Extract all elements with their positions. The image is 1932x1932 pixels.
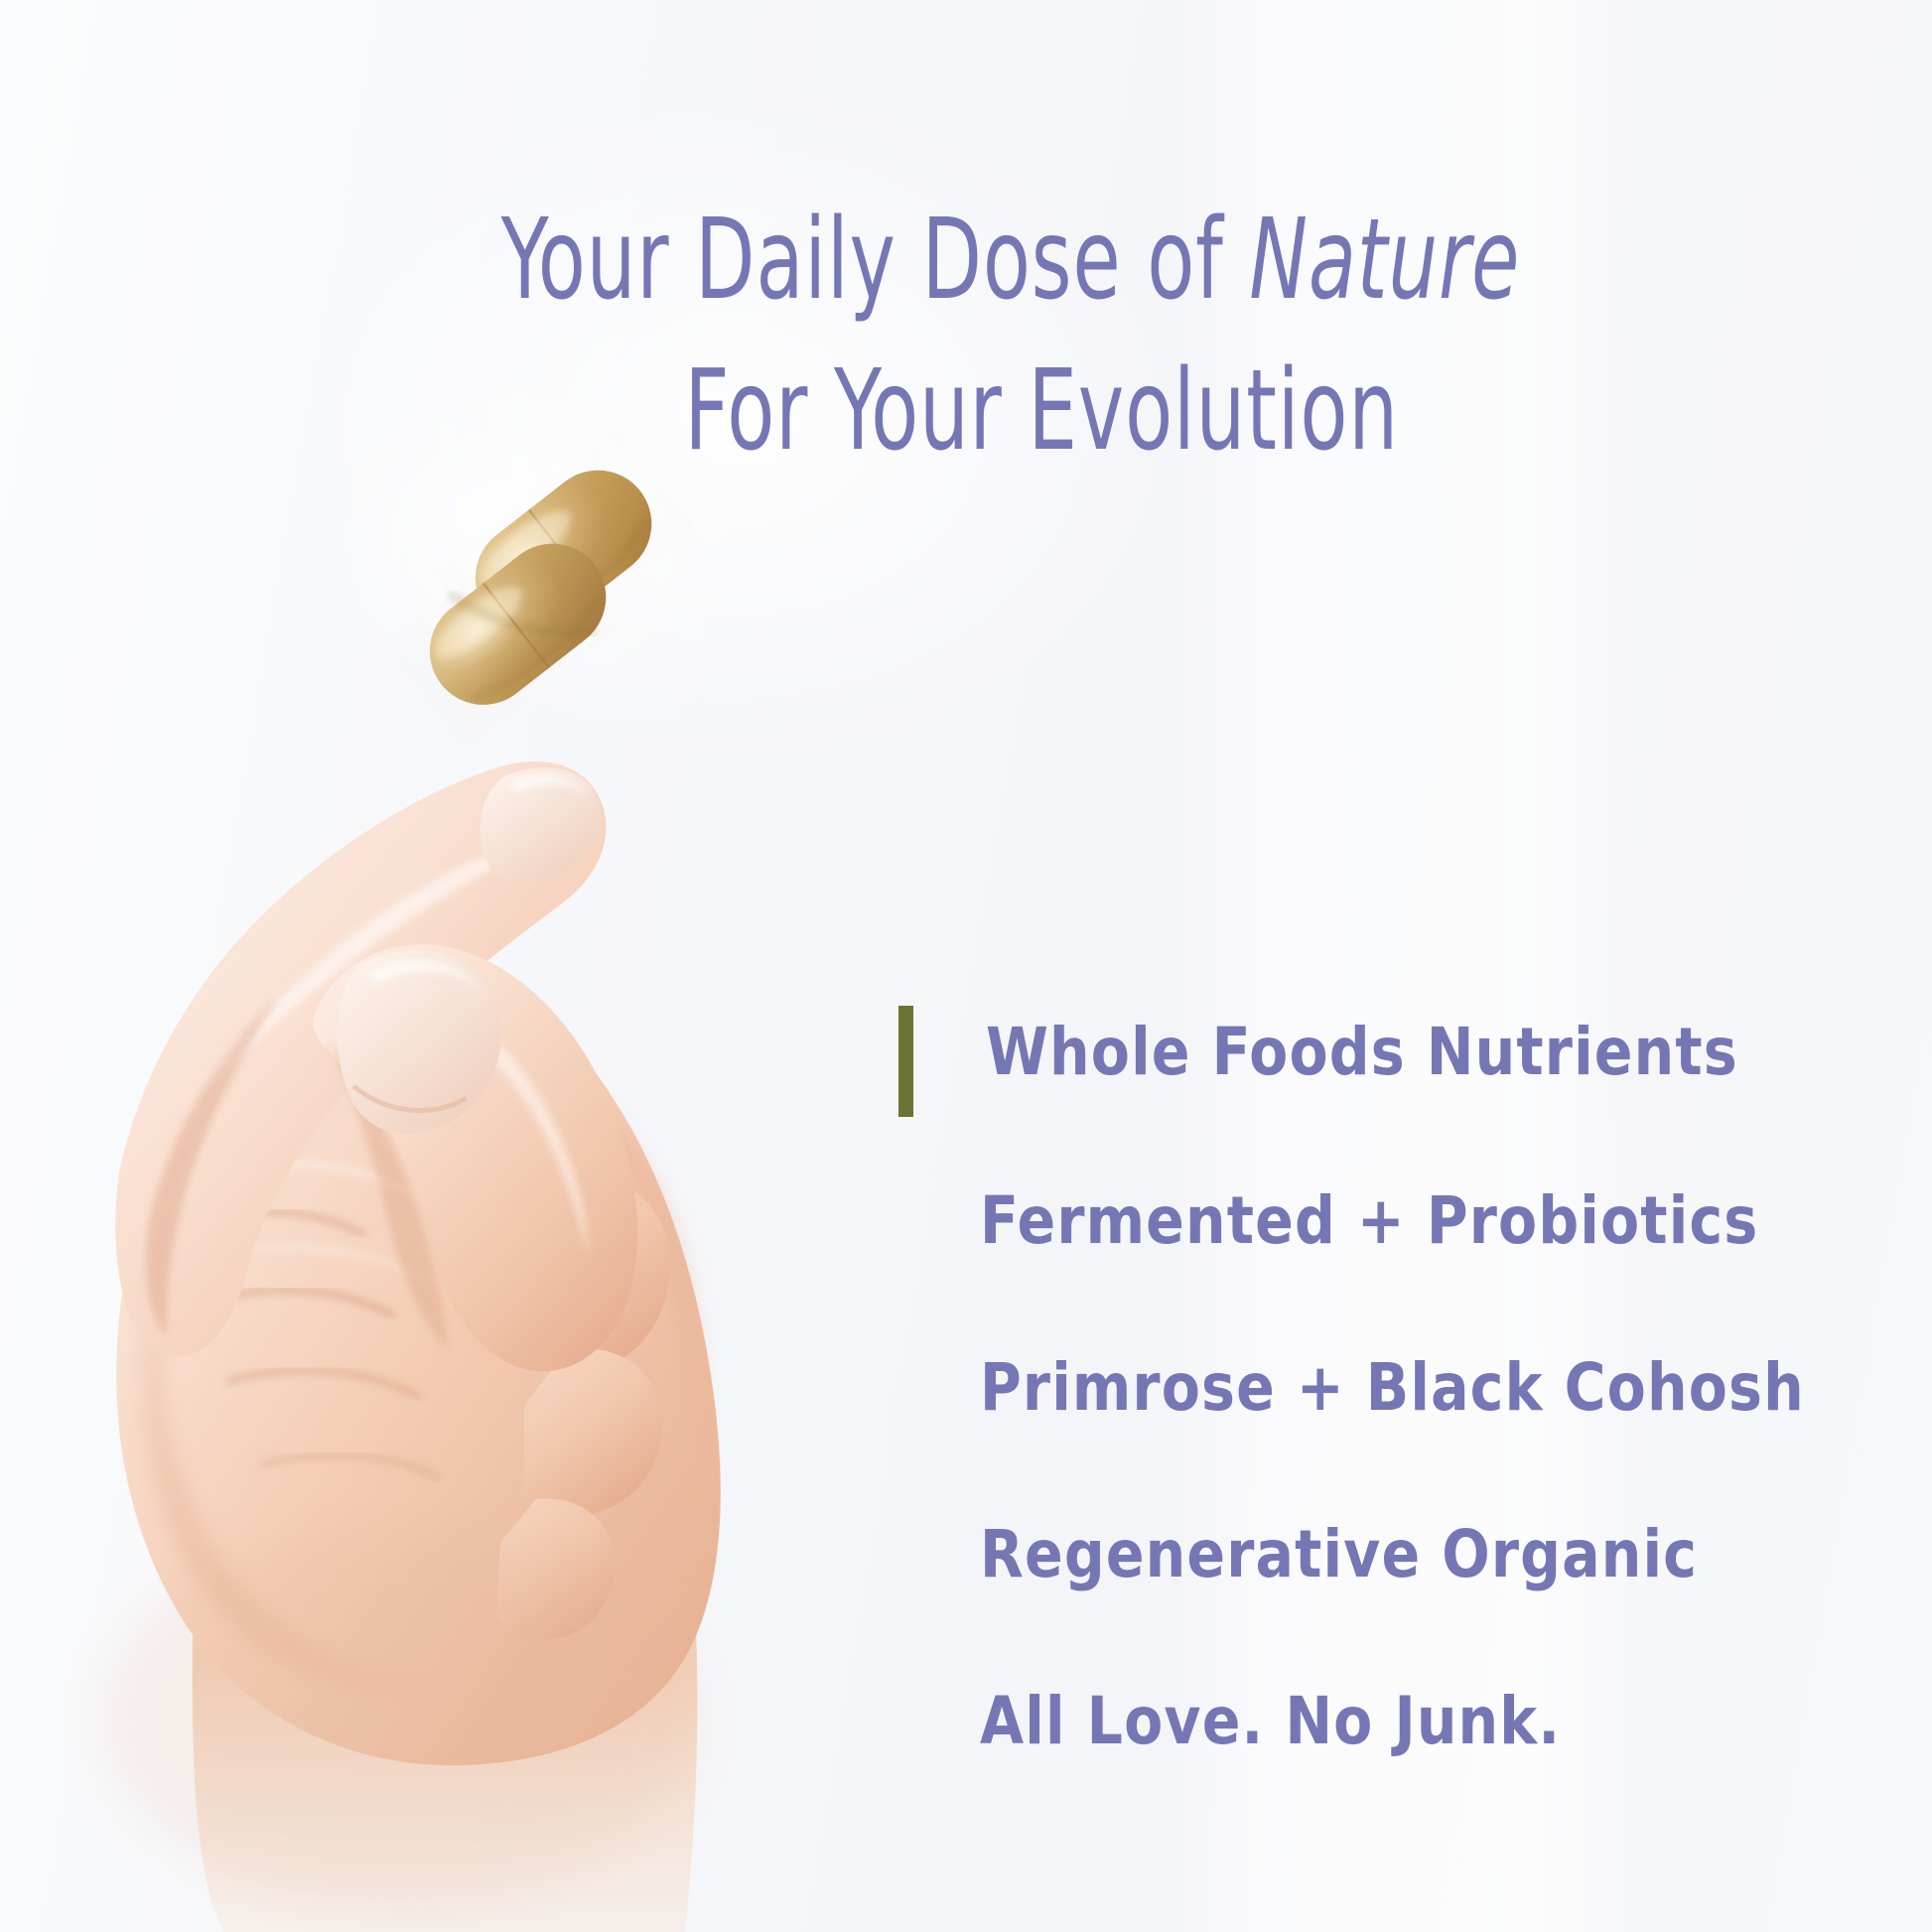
feature-item-whole-foods-nutrients[interactable]: Whole Foods Nutrients [898, 998, 1891, 1165]
feature-label: Fermented + Probiotics [980, 1188, 1758, 1254]
feature-label: Primrose + Black Cohosh [980, 1355, 1805, 1421]
hand-holding-capsules-photo [0, 328, 953, 1932]
feature-item-all-love-no-junk[interactable]: All Love. No Junk. [898, 1665, 1891, 1832]
feature-label: All Love. No Junk. [980, 1689, 1561, 1754]
headline-emphasis-nature: Nature [1249, 196, 1520, 325]
feature-item-fermented-probiotics[interactable]: Fermented + Probiotics [898, 1165, 1891, 1331]
hand-photo-svg [0, 328, 953, 1932]
hand-ambient-shadow [99, 1529, 695, 1906]
feature-item-primrose-black-cohosh[interactable]: Primrose + Black Cohosh [898, 1331, 1891, 1498]
feature-label: Whole Foods Nutrients [986, 1020, 1738, 1085]
feature-item-regenerative-organic[interactable]: Regenerative Organic [898, 1498, 1891, 1665]
feature-accent-bar [898, 1006, 913, 1117]
headline-line-1-prefix: Your Daily Dose of [501, 196, 1250, 325]
feature-label: Regenerative Organic [980, 1522, 1698, 1587]
feature-list: Whole Foods Nutrients Fermented + Probio… [898, 998, 1891, 1832]
headline-line-1: Your Daily Dose of Nature [306, 185, 1630, 336]
promo-canvas: Your Daily Dose of Nature For Your Evolu… [0, 0, 1932, 1932]
